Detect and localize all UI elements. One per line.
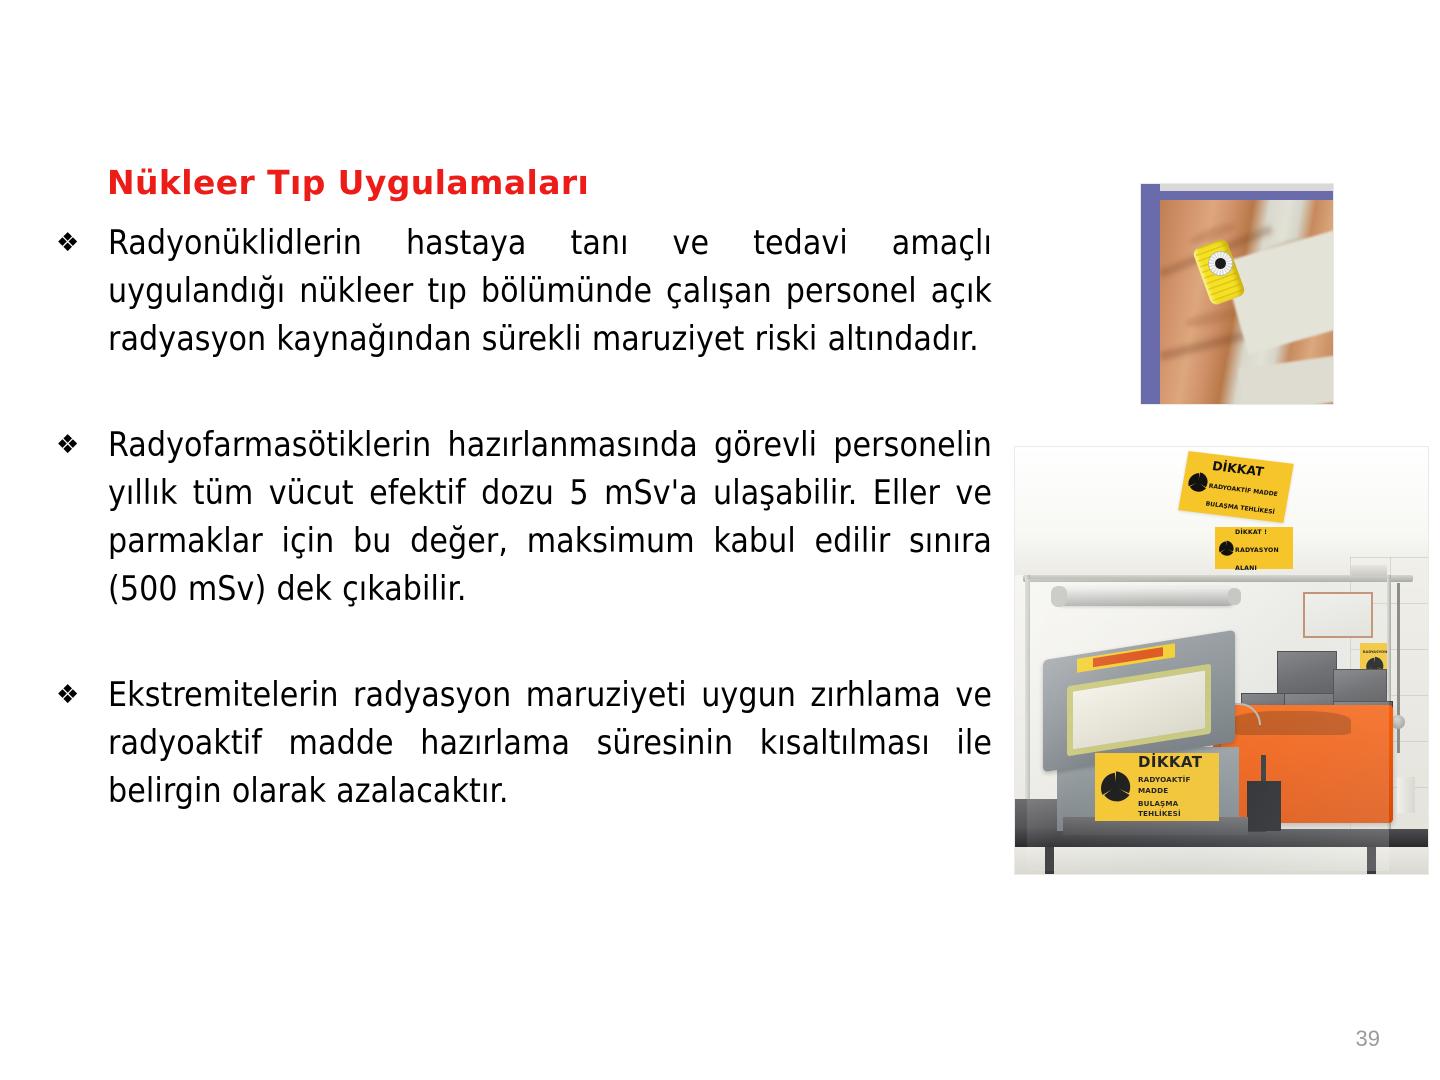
hood-control-label	[1351, 565, 1387, 576]
sign-line-2: BULAŞMA TEHLİKESİ	[1138, 799, 1215, 820]
radiation-trefoil-icon	[1099, 770, 1133, 804]
bullet-text-3: Ekstremitelerin radyasyon maruziyeti uyg…	[108, 671, 992, 815]
lead-brick	[1333, 669, 1387, 705]
sign-line-2: BULAŞMA TEHLİKESİ	[1205, 500, 1275, 515]
slide: Nükleer Tıp Uygulamaları ❖ Radyonüklidle…	[0, 0, 1440, 1080]
hotcell-sign-contamination: DİKKAT RADYOAKTİF MADDE BULAŞMA TEHLİKES…	[1095, 753, 1219, 821]
sign-line-1: RADYOAKTİF MADDE	[1208, 483, 1278, 498]
sign-heading: RADYASYON	[1363, 650, 1387, 654]
hot-lab-photo: DİKKAT RADYOAKTİF MADDE BULAŞMA TEHLİKES…	[1015, 447, 1428, 874]
sign-text-group: DİKKAT RADYOAKTİF MADDE BULAŞMA TEHLİKES…	[1138, 754, 1215, 820]
container-right	[1397, 777, 1415, 813]
page-number: 39	[1356, 1026, 1380, 1052]
content-text-column: Nükleer Tıp Uygulamaları ❖ Radyonüklidle…	[52, 165, 992, 815]
list-item: ❖ Radyofarmasötiklerin hazırlanmasında g…	[52, 421, 992, 613]
list-item: ❖ Radyonüklidlerin hastaya tanı ve tedav…	[52, 219, 992, 363]
dark-equipment-block	[1247, 781, 1281, 831]
list-item: ❖ Ekstremitelerin radyasyon maruziyeti u…	[52, 671, 992, 815]
bullet-diamond-icon: ❖	[52, 671, 108, 719]
sign-line-2: RADYASYON	[1235, 547, 1279, 554]
sign-heading: DİKKAT	[1138, 753, 1202, 771]
bullet-text-2: Radyofarmasötiklerin hazırlanmasında gör…	[108, 421, 992, 613]
photo-frame-strip	[1160, 184, 1333, 191]
sign-text-group: DİKKAT RADYOAKTİF MADDE BULAŞMA TEHLİKES…	[1205, 457, 1283, 519]
pole-knob	[1391, 715, 1405, 729]
lamp-end-cap	[1228, 588, 1241, 605]
sign-line-1: DİKKAT !	[1235, 529, 1267, 536]
bullet-diamond-icon: ❖	[52, 421, 108, 469]
ring-dosimeter-photo	[1141, 184, 1333, 404]
sign-line-3: ALANI	[1235, 565, 1257, 572]
lamp-end-cap	[1051, 586, 1067, 607]
lead-brick	[1277, 651, 1337, 697]
bullet-diamond-icon: ❖	[52, 219, 108, 267]
photo-frame-left	[1141, 184, 1160, 404]
bench-leg	[1367, 847, 1376, 874]
fluorescent-lamp	[1055, 587, 1237, 606]
inner-window-pane	[1303, 592, 1373, 638]
bullet-text-1: Radyonüklidlerin hastaya tanı ve tedavi …	[108, 219, 992, 363]
radiation-trefoil-icon	[1218, 540, 1235, 557]
sign-heading: DİKKAT	[1211, 458, 1265, 479]
page-title: Nükleer Tıp Uygulamaları	[107, 165, 992, 201]
ceiling-sign-radiation-area: DİKKAT ! RADYASYON ALANI	[1215, 527, 1293, 569]
sign-line-1: RADYOAKTİF MADDE	[1138, 775, 1215, 796]
bench-leg	[1045, 847, 1054, 874]
ceiling-sign-contamination: DİKKAT RADYOAKTİF MADDE BULAŞMA TEHLİKES…	[1178, 451, 1294, 523]
hood-sash-bar	[1023, 575, 1413, 582]
